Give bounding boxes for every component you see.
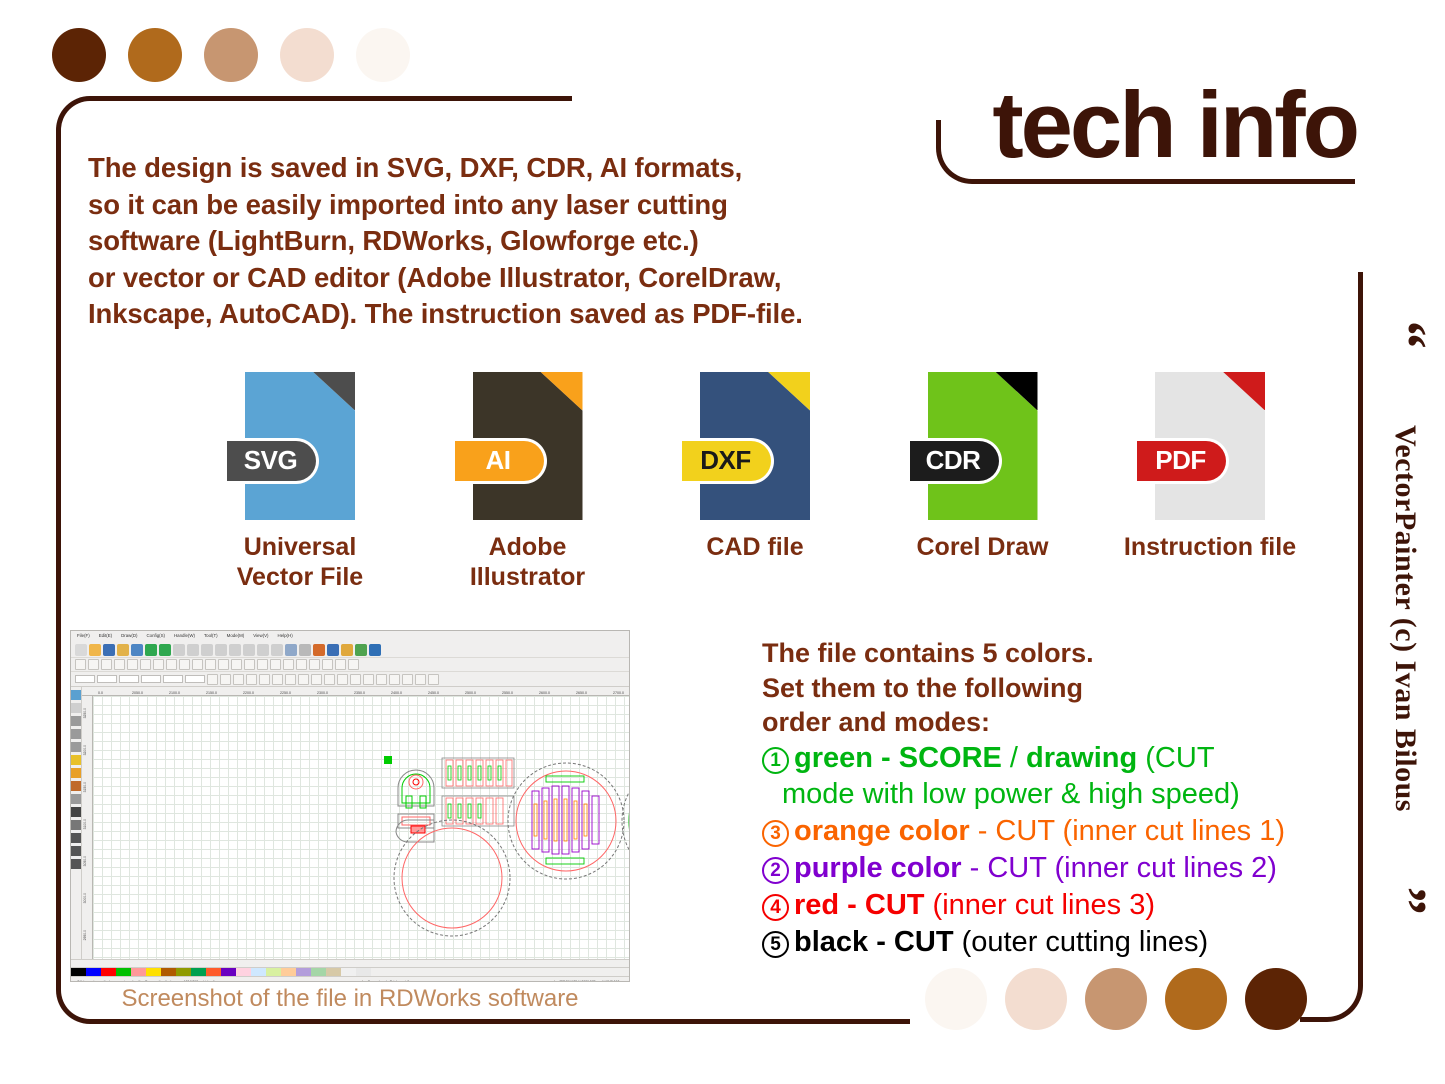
rdworks-draw-tool-20[interactable] <box>322 659 333 670</box>
rdworks-menu-tool[interactable]: Tool(T) <box>204 633 218 642</box>
rdworks-toolbar-icon-18[interactable] <box>313 644 325 656</box>
palette-swatch-6[interactable] <box>146 968 161 976</box>
rdworks-caption: Screenshot of the file in RDWorks softwa… <box>70 985 630 1013</box>
instruction-bold-text: purple color <box>794 852 962 884</box>
rdworks-draw-tool-3[interactable] <box>101 659 112 670</box>
intro-line-2: so it can be easily imported into any la… <box>88 187 968 224</box>
top-dot-5 <box>356 28 410 82</box>
rdworks-status-right: JRDC64425.X:2030.579mm,Y:1248.013mm <box>554 980 625 983</box>
rdworks-screenshot: File(F)Edit(E)Draw(D)Config(S)Handle(W)T… <box>70 630 630 982</box>
rdworks-toolbar-icon-5[interactable] <box>131 644 143 656</box>
rdworks-side-tool-7[interactable] <box>71 768 81 778</box>
rdworks-toolbar-primary[interactable] <box>71 642 629 658</box>
palette-swatch-8[interactable] <box>176 968 191 976</box>
rdworks-side-tool-11[interactable] <box>71 820 81 830</box>
rdworks-toolbar-icon-12[interactable] <box>229 644 241 656</box>
hruler-tick-11: 2500.0 <box>452 691 489 695</box>
rdworks-align-tool-12[interactable] <box>350 674 361 685</box>
rdworks-toolbar-icon-10[interactable] <box>201 644 213 656</box>
rdworks-align-tool-15[interactable] <box>389 674 400 685</box>
rdworks-draw-tool-19[interactable] <box>309 659 320 670</box>
vruler-tick-3: 3150.0 <box>83 782 87 792</box>
instruction-number-badge: 5 <box>762 931 789 958</box>
rdworks-side-tool-6[interactable] <box>71 755 81 765</box>
rdworks-draw-tool-5[interactable] <box>127 659 138 670</box>
hruler-tick-15: 2700.0 <box>600 691 630 695</box>
palette-swatch-1[interactable] <box>71 968 86 976</box>
rdworks-toolbar-icon-7[interactable] <box>159 644 171 656</box>
rdworks-draw-tool-13[interactable] <box>231 659 242 670</box>
watermark-text: VectorPainter (c) Ivan Bilous <box>1388 425 1422 812</box>
hruler-tick-14: 2650.0 <box>563 691 600 695</box>
rdworks-draw-tool-6[interactable] <box>140 659 151 670</box>
color-instructions: The file contains 5 colors.Set them to t… <box>762 636 1352 961</box>
rdworks-toolbar-icon-13[interactable] <box>243 644 255 656</box>
rdworks-status-left: --"Welcome to use the Laser system of cu… <box>75 980 218 983</box>
rdworks-menu-draw[interactable]: Draw(D) <box>121 633 137 642</box>
instruction-number-badge: 3 <box>762 820 789 847</box>
rdworks-align-tool-1[interactable] <box>207 674 218 685</box>
format-item-ai: AIAdobeIllustrator <box>428 372 628 592</box>
format-caption: Instruction file <box>1124 532 1296 562</box>
rdworks-toolbar-icon-2[interactable] <box>89 644 101 656</box>
format-item-dxf: DXFCAD file <box>655 372 855 562</box>
frame-bottom-line <box>150 1019 910 1024</box>
rdworks-toolbar-icon-3[interactable] <box>103 644 115 656</box>
bottom-decorative-dots <box>925 968 1307 1030</box>
title-underline <box>995 179 1355 184</box>
rdworks-draw-tool-14[interactable] <box>244 659 255 670</box>
palette-swatch-20[interactable] <box>356 968 371 976</box>
instruction-bold-text: black - CUT <box>794 926 954 958</box>
instruction-item-5: 5black - CUT (outer cutting lines) <box>762 924 1352 961</box>
rdworks-body: 0.02050.02100.02150.02200.02250.02300.02… <box>71 687 629 959</box>
page-title: tech info <box>992 78 1357 172</box>
rdworks-side-tool-10[interactable] <box>71 807 81 817</box>
instruction-item-1-subline: mode with low power & high speed) <box>762 776 1352 813</box>
palette-swatch-12[interactable] <box>236 968 251 976</box>
rdworks-toolbar-icon-17[interactable] <box>299 644 311 656</box>
pdf-file-icon: PDF <box>1155 372 1265 520</box>
rdworks-draw-tool-11[interactable] <box>205 659 216 670</box>
instruction-bold-text-2: drawing <box>1026 742 1137 774</box>
rdworks-draw-tool-1[interactable] <box>75 659 86 670</box>
cdr-file-icon: CDR <box>928 372 1038 520</box>
rdworks-status-mid: General mode,Total count:0 <box>362 980 409 983</box>
rdworks-draw-tool-10[interactable] <box>192 659 203 670</box>
svg-file-icon: SVG <box>245 372 355 520</box>
rdworks-status-bar: --"Welcome to use the Laser system of cu… <box>71 976 629 982</box>
hruler-tick-13: 2600.0 <box>526 691 563 695</box>
rdworks-menu-view[interactable]: View(V) <box>253 633 268 642</box>
rdworks-property-field-5[interactable] <box>163 675 183 683</box>
rdworks-side-tool-12[interactable] <box>71 833 81 843</box>
ai-file-icon: AI <box>473 372 583 520</box>
rdworks-property-field-6[interactable] <box>185 675 205 683</box>
rdworks-canvas-area: 0.02050.02100.02150.02200.02250.02300.02… <box>82 687 630 959</box>
rdworks-property-field-4[interactable] <box>141 675 161 683</box>
format-caption: CAD file <box>706 532 803 562</box>
rdworks-toolbar-icon-14[interactable] <box>257 644 269 656</box>
rdworks-design-artwork <box>93 696 630 959</box>
bottom-dot-2 <box>1005 968 1067 1030</box>
rdworks-align-tool-13[interactable] <box>363 674 374 685</box>
instruction-bold-text: green - SCORE <box>794 742 1002 774</box>
palette-swatch-14[interactable] <box>266 968 281 976</box>
bottom-dot-3 <box>1085 968 1147 1030</box>
vruler-tick-4: 3100.0 <box>83 819 87 829</box>
rdworks-align-tool-5[interactable] <box>259 674 270 685</box>
rdworks-toolbar-icon-9[interactable] <box>187 644 199 656</box>
instruction-number-badge: 1 <box>762 747 789 774</box>
instruction-bold-text: red - CUT <box>794 889 925 921</box>
instruction-number-badge: 2 <box>762 857 789 884</box>
rdworks-draw-tool-7[interactable] <box>153 659 164 670</box>
rdworks-toolbar-icon-16[interactable] <box>285 644 297 656</box>
rdworks-side-tool-13[interactable] <box>71 846 81 856</box>
rdworks-side-tool-4[interactable] <box>71 729 81 739</box>
rdworks-draw-tool-22[interactable] <box>348 659 359 670</box>
palette-swatch-3[interactable] <box>101 968 116 976</box>
intro-paragraph: The design is saved in SVG, DXF, CDR, AI… <box>88 150 968 333</box>
bottom-dot-1 <box>925 968 987 1030</box>
palette-swatch-7[interactable] <box>161 968 176 976</box>
rdworks-toolbar-icon-4[interactable] <box>117 644 129 656</box>
top-dot-2 <box>128 28 182 82</box>
rdworks-align-tool-2[interactable] <box>220 674 231 685</box>
rdworks-horizontal-scrollbar[interactable] <box>71 959 629 967</box>
rdworks-align-tool-3[interactable] <box>233 674 244 685</box>
rdworks-align-tool-11[interactable] <box>337 674 348 685</box>
rdworks-toolbar-icon-21[interactable] <box>355 644 367 656</box>
rdworks-draw-tool-12[interactable] <box>218 659 229 670</box>
frame-bracket-bottom-right <box>1300 958 1363 1022</box>
format-item-cdr: CDRCorel Draw <box>883 372 1083 562</box>
rdworks-align-tool-14[interactable] <box>376 674 387 685</box>
instruction-bold-text: orange color <box>794 815 970 847</box>
rdworks-toolbar-icon-1[interactable] <box>75 644 87 656</box>
rdworks-align-tool-6[interactable] <box>272 674 283 685</box>
rdworks-draw-tool-17[interactable] <box>283 659 294 670</box>
palette-swatch-17[interactable] <box>311 968 326 976</box>
rdworks-toolbar-icon-6[interactable] <box>145 644 157 656</box>
palette-swatch-9[interactable] <box>191 968 206 976</box>
rdworks-draw-tool-15[interactable] <box>257 659 268 670</box>
rdworks-align-tool-9[interactable] <box>311 674 322 685</box>
rdworks-color-palette[interactable] <box>71 967 629 976</box>
format-item-pdf: PDFInstruction file <box>1110 372 1310 562</box>
instructions-heading-2: Set them to the following <box>762 671 1352 706</box>
format-badge-label: SVG <box>227 438 319 484</box>
rdworks-side-tool-8[interactable] <box>71 781 81 791</box>
frame-bracket-top-left <box>56 96 572 156</box>
palette-swatch-10[interactable] <box>206 968 221 976</box>
hruler-tick-9: 2400.0 <box>378 691 415 695</box>
vruler-tick-1: 3250.0 <box>83 708 87 718</box>
rdworks-tool-column[interactable] <box>71 687 82 959</box>
format-badge-label: AI <box>455 438 547 484</box>
rdworks-side-tool-5[interactable] <box>71 742 81 752</box>
rdworks-draw-tool-9[interactable] <box>179 659 190 670</box>
hruler-tick-5: 2200.0 <box>230 691 267 695</box>
vruler-tick-5: 3050.0 <box>83 856 87 866</box>
palette-swatch-11[interactable] <box>221 968 236 976</box>
palette-swatch-18[interactable] <box>326 968 341 976</box>
rdworks-align-tool-16[interactable] <box>402 674 413 685</box>
palette-swatch-15[interactable] <box>281 968 296 976</box>
rdworks-drawing-canvas[interactable] <box>93 696 630 959</box>
rdworks-menu-edit[interactable]: Edit(E) <box>99 633 112 642</box>
rdworks-align-tool-8[interactable] <box>298 674 309 685</box>
palette-swatch-5[interactable] <box>131 968 146 976</box>
hruler-tick-1: 0.0 <box>82 691 119 695</box>
quote-open-icon: “ <box>1388 321 1422 349</box>
hruler-tick-2: 2050.0 <box>119 691 156 695</box>
palette-swatch-19[interactable] <box>341 968 356 976</box>
hruler-tick-3: 2100.0 <box>156 691 193 695</box>
hruler-tick-10: 2450.0 <box>415 691 452 695</box>
intro-line-5: Inkscape, AutoCAD). The instruction save… <box>88 296 968 333</box>
file-format-list: SVGUniversalVector FileAIAdobeIllustrato… <box>200 372 1310 592</box>
rdworks-side-tool-2[interactable] <box>71 703 81 713</box>
rdworks-toolbar-secondary[interactable] <box>71 658 629 672</box>
hruler-tick-12: 2550.0 <box>489 691 526 695</box>
rdworks-draw-tool-18[interactable] <box>296 659 307 670</box>
rdworks-draw-tool-2[interactable] <box>88 659 99 670</box>
instruction-item-2: 3orange color - CUT (inner cut lines 1) <box>762 813 1352 850</box>
rdworks-draw-tool-4[interactable] <box>114 659 125 670</box>
rdworks-side-tool-3[interactable] <box>71 716 81 726</box>
rdworks-side-tool-14[interactable] <box>71 859 81 869</box>
frame-right-line <box>1358 272 1363 962</box>
rdworks-align-tool-18[interactable] <box>428 674 439 685</box>
rdworks-menu-handle[interactable]: Handle(W) <box>174 633 195 642</box>
rdworks-toolbar-icon-8[interactable] <box>173 644 185 656</box>
rdworks-align-tool-10[interactable] <box>324 674 335 685</box>
hruler-tick-8: 2350.0 <box>341 691 378 695</box>
rdworks-horizontal-ruler: 0.02050.02100.02150.02200.02250.02300.02… <box>82 687 630 696</box>
rdworks-menubar[interactable]: File(F)Edit(E)Draw(D)Config(S)Handle(W)T… <box>71 631 629 642</box>
quote-close-icon: ” <box>1388 887 1422 915</box>
instructions-heading-3: order and modes: <box>762 705 1352 740</box>
bottom-dot-4 <box>1165 968 1227 1030</box>
dxf-file-icon: DXF <box>700 372 810 520</box>
rdworks-toolbar-icon-15[interactable] <box>271 644 283 656</box>
intro-line-3: software (LightBurn, RDWorks, Glowforge … <box>88 223 968 260</box>
rdworks-toolbar-icon-11[interactable] <box>215 644 227 656</box>
hruler-tick-6: 2250.0 <box>267 691 304 695</box>
rdworks-align-tool-17[interactable] <box>415 674 426 685</box>
instruction-item-4: 4red - CUT (inner cut lines 3) <box>762 887 1352 924</box>
top-dot-4 <box>280 28 334 82</box>
rdworks-property-field-3[interactable] <box>119 675 139 683</box>
palette-swatch-16[interactable] <box>296 968 311 976</box>
top-decorative-dots <box>52 28 410 82</box>
palette-swatch-4[interactable] <box>116 968 131 976</box>
rdworks-vertical-ruler: 3250.03200.03150.03100.03050.03000.02950… <box>82 696 93 959</box>
instruction-item-3: 2purple color - CUT (inner cut lines 2) <box>762 850 1352 887</box>
instruction-item-1: 1green - SCORE / drawing (CUT <box>762 740 1352 777</box>
rdworks-menu-mode[interactable]: Mode(M) <box>227 633 245 642</box>
rdworks-property-field-1[interactable] <box>75 675 95 683</box>
palette-swatch-13[interactable] <box>251 968 266 976</box>
top-dot-3 <box>204 28 258 82</box>
rdworks-draw-tool-16[interactable] <box>270 659 281 670</box>
rdworks-menu-file[interactable]: File(F) <box>77 633 90 642</box>
format-item-svg: SVGUniversalVector File <box>200 372 400 592</box>
rdworks-toolbar-icon-22[interactable] <box>369 644 381 656</box>
rdworks-toolbar-properties[interactable] <box>71 672 629 687</box>
intro-line-4: or vector or CAD editor (Adobe Illustrat… <box>88 260 968 297</box>
format-caption: Corel Draw <box>917 532 1049 562</box>
instruction-number-badge: 4 <box>762 894 789 921</box>
frame-left-line <box>56 150 61 980</box>
vruler-tick-7: 2950.0 <box>83 930 87 940</box>
rdworks-side-tool-9[interactable] <box>71 794 81 804</box>
hruler-tick-4: 2150.0 <box>193 691 230 695</box>
format-caption: AdobeIllustrator <box>470 532 585 592</box>
bottom-dot-5 <box>1245 968 1307 1030</box>
format-badge-label: PDF <box>1137 438 1229 484</box>
rdworks-menu-help[interactable]: Help(H) <box>278 633 293 642</box>
intro-line-1: The design is saved in SVG, DXF, CDR, AI… <box>88 150 968 187</box>
rdworks-menu-config[interactable]: Config(S) <box>146 633 165 642</box>
format-badge-label: CDR <box>910 438 1002 484</box>
rdworks-side-tool-1[interactable] <box>71 690 81 700</box>
vruler-tick-2: 3200.0 <box>83 745 87 755</box>
vruler-tick-6: 3000.0 <box>83 893 87 903</box>
rdworks-align-tool-7[interactable] <box>285 674 296 685</box>
top-dot-1 <box>52 28 106 82</box>
rdworks-align-tool-4[interactable] <box>246 674 257 685</box>
watermark: “ VectorPainter (c) Ivan Bilous ” <box>1378 318 1432 918</box>
rdworks-toolbar-icon-19[interactable] <box>327 644 339 656</box>
rdworks-draw-tool-21[interactable] <box>335 659 346 670</box>
rdworks-draw-tool-8[interactable] <box>166 659 177 670</box>
format-badge-label: DXF <box>682 438 774 484</box>
hruler-tick-7: 2300.0 <box>304 691 341 695</box>
palette-swatch-2[interactable] <box>86 968 101 976</box>
rdworks-property-field-2[interactable] <box>97 675 117 683</box>
rdworks-toolbar-icon-20[interactable] <box>341 644 353 656</box>
instructions-heading-1: The file contains 5 colors. <box>762 636 1352 671</box>
format-caption: UniversalVector File <box>237 532 363 592</box>
